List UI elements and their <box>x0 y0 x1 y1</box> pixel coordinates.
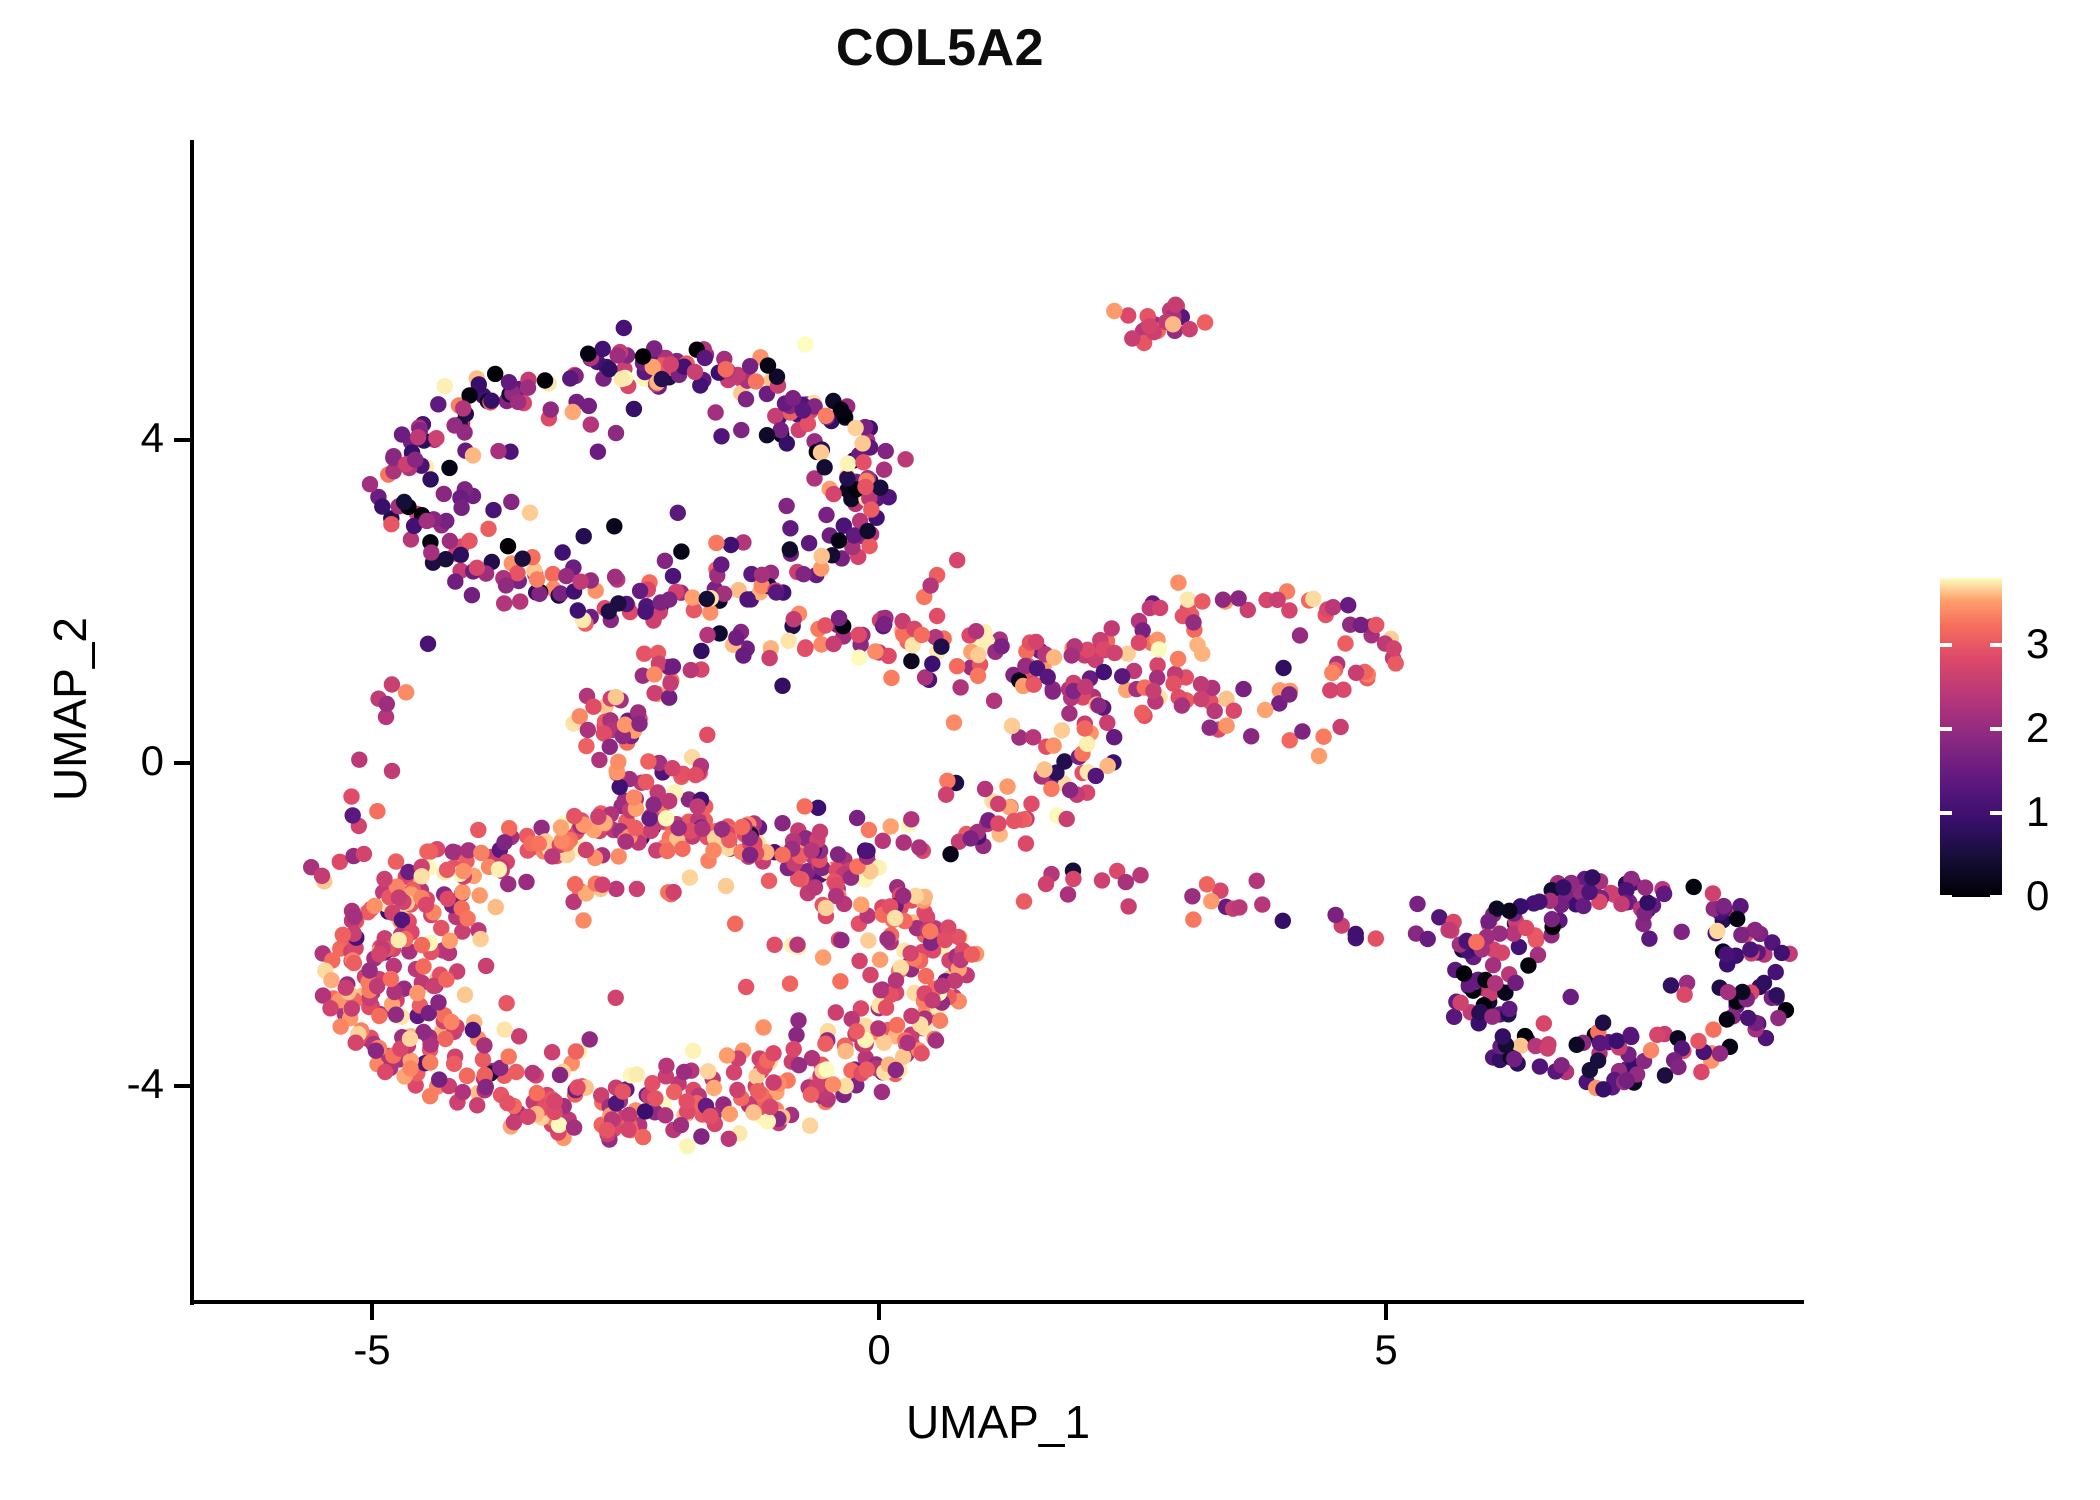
scatter-point <box>795 566 811 582</box>
scatter-point <box>1348 926 1364 942</box>
scatter-point <box>664 760 680 776</box>
scatter-point <box>1184 888 1200 904</box>
x-axis-title: UMAP_1 <box>194 1395 1802 1449</box>
scatter-point <box>713 556 729 572</box>
scatter-point <box>1088 768 1104 784</box>
scatter-point <box>1141 318 1157 334</box>
scatter-point <box>410 429 426 445</box>
scatter-point <box>1520 957 1536 973</box>
scatter-point <box>402 1060 418 1076</box>
scatter-point <box>1062 782 1078 798</box>
scatter-point <box>1077 679 1093 695</box>
colorbar-gradient <box>1940 578 2002 897</box>
scatter-point <box>1023 796 1039 812</box>
x-tick-mark <box>370 1304 374 1320</box>
scatter-point <box>791 1057 807 1073</box>
scatter-point <box>860 932 876 948</box>
scatter-point <box>343 788 359 804</box>
scatter-point <box>754 567 770 583</box>
scatter-point <box>595 341 611 357</box>
scatter-point <box>924 656 940 672</box>
scatter-point <box>860 523 876 539</box>
scatter-point <box>887 910 903 926</box>
scatter-point <box>1480 913 1496 929</box>
scatter-point <box>862 967 878 983</box>
scatter-point <box>661 591 677 607</box>
scatter-point <box>376 871 392 887</box>
scatter-point <box>498 577 514 593</box>
scatter-point <box>415 958 431 974</box>
scatter-point <box>830 846 846 862</box>
scatter-point <box>1485 957 1501 973</box>
scatter-point <box>599 1122 615 1138</box>
scatter-point <box>1094 872 1110 888</box>
scatter-point <box>1507 975 1523 991</box>
scatter-point <box>440 891 456 907</box>
scatter-point <box>544 848 560 864</box>
scatter-point <box>1046 649 1062 665</box>
scatter-point <box>1506 1051 1522 1067</box>
colorbar-tick-mark <box>1990 895 2002 899</box>
scatter-point <box>1124 330 1140 346</box>
scatter-point <box>1532 1058 1548 1074</box>
scatter-point <box>511 1028 527 1044</box>
scatter-point <box>739 591 755 607</box>
scatter-point <box>611 848 627 864</box>
scatter-point <box>1152 600 1168 616</box>
scatter-point <box>1120 307 1136 323</box>
scatter-point <box>1409 896 1425 912</box>
scatter-point <box>851 953 867 969</box>
scatter-point <box>369 803 385 819</box>
scatter-point <box>699 627 715 643</box>
scatter-point <box>439 862 455 878</box>
scatter-point <box>658 810 674 826</box>
scatter-point <box>1368 930 1384 946</box>
scatter-point <box>797 336 813 352</box>
scatter-point <box>1555 879 1571 895</box>
scatter-point <box>437 1031 453 1047</box>
umap-feature-plot: COL5A2 -404-505 UMAP_1 UMAP_2 0123 <box>0 0 2100 1500</box>
scatter-point <box>659 843 675 859</box>
scatter-point <box>608 689 624 705</box>
scatter-point <box>700 1063 716 1079</box>
scatter-point <box>673 543 689 559</box>
scatter-point <box>568 1043 584 1059</box>
scatter-point <box>403 531 419 547</box>
scatter-point <box>1592 1035 1608 1051</box>
scatter-point <box>508 1064 524 1080</box>
scatter-point <box>1487 975 1503 991</box>
scatter-point <box>849 1023 865 1039</box>
scatter-point <box>1332 719 1348 735</box>
scatter-point <box>1718 946 1734 962</box>
scatter-point <box>407 452 423 468</box>
scatter-point <box>478 958 494 974</box>
scatter-point <box>872 952 888 968</box>
scatter-point <box>816 459 832 475</box>
scatter-point <box>362 476 378 492</box>
scatter-point <box>1026 677 1042 693</box>
scatter-point <box>855 454 871 470</box>
scatter-point <box>637 604 653 620</box>
scatter-point <box>338 980 354 996</box>
scatter-point <box>851 650 867 666</box>
scatter-point <box>509 565 525 581</box>
scatter-point <box>1040 669 1056 685</box>
colorbar-tick-label: 0 <box>2026 875 2049 917</box>
scatter-point <box>500 876 516 892</box>
scatter-point <box>699 727 715 743</box>
scatter-point <box>738 979 754 995</box>
scatter-point <box>575 912 591 928</box>
scatter-point <box>503 494 519 510</box>
scatter-point <box>453 547 469 563</box>
scatter-point <box>1388 655 1404 671</box>
scatter-point <box>968 623 984 639</box>
scatter-point <box>552 1067 568 1083</box>
scatter-point <box>1194 593 1210 609</box>
scatter-point <box>1218 718 1234 734</box>
scatter-point <box>1337 635 1353 651</box>
scatter-point <box>1038 876 1054 892</box>
scatter-point <box>889 1017 905 1033</box>
scatter-point <box>1641 931 1657 947</box>
scatter-point <box>674 841 690 857</box>
scatter-point <box>438 971 454 987</box>
scatter-point <box>1340 597 1356 613</box>
scatter-point <box>1495 1028 1511 1044</box>
scatter-point <box>1539 1040 1555 1056</box>
scatter-point <box>847 420 863 436</box>
scatter-point <box>774 678 790 694</box>
scatter-point <box>949 658 965 674</box>
scatter-point <box>608 881 624 897</box>
scatter-point <box>480 521 496 537</box>
scatter-point <box>488 899 504 915</box>
scatter-point <box>1165 316 1181 332</box>
scatter-point <box>1106 303 1122 319</box>
scatter-point <box>626 789 642 805</box>
scatter-point <box>1294 723 1310 739</box>
scatter-point <box>657 553 673 569</box>
scatter-point <box>368 1043 384 1059</box>
scatter-point <box>647 1090 663 1106</box>
scatter-point <box>785 390 801 406</box>
scatter-point <box>1197 314 1213 330</box>
scatter-point <box>932 1013 948 1029</box>
scatter-point <box>446 1056 462 1072</box>
scatter-point <box>1584 869 1600 885</box>
scatter-point <box>1167 297 1183 313</box>
scatter-point <box>1770 1010 1786 1026</box>
scatter-point <box>1676 987 1692 1003</box>
scatter-point <box>1180 591 1196 607</box>
scatter-point <box>873 982 889 998</box>
scatter-point <box>825 1076 841 1092</box>
scatter-point <box>1705 885 1721 901</box>
scatter-point <box>853 897 869 913</box>
scatter-point <box>345 807 361 823</box>
scatter-point <box>580 722 596 738</box>
scatter-point <box>1145 683 1161 699</box>
scatter-point <box>617 717 633 733</box>
scatter-point <box>562 370 578 386</box>
scatter-point <box>485 502 501 518</box>
scatter-point <box>837 1043 853 1059</box>
scatter-point <box>878 443 894 459</box>
scatter-point <box>402 1031 418 1047</box>
scatter-point <box>870 1020 886 1036</box>
scatter-point <box>714 821 730 837</box>
scatter-point <box>727 916 743 932</box>
scatter-point <box>859 1061 875 1077</box>
scatter-point <box>351 752 367 768</box>
scatter-point <box>1452 995 1468 1011</box>
scatter-point <box>537 372 553 388</box>
scatter-point <box>687 767 703 783</box>
scatter-point <box>348 1035 364 1051</box>
scatter-point <box>610 754 626 770</box>
scatter-point <box>1742 941 1758 957</box>
scatter-point <box>455 400 471 416</box>
scatter-point <box>1235 681 1251 697</box>
scatter-point <box>1640 894 1656 910</box>
scatter-point <box>990 815 1006 831</box>
scatter-point <box>657 1107 673 1123</box>
colorbar-tick-mark <box>1940 727 1952 731</box>
page-title: COL5A2 <box>0 18 1880 78</box>
scatter-point <box>1096 664 1112 680</box>
scatter-point <box>1207 703 1223 719</box>
scatter-point <box>1595 1081 1611 1097</box>
scatter-point <box>679 1138 695 1154</box>
colorbar-tick-label: 3 <box>2026 623 2049 665</box>
scatter-point <box>472 931 488 947</box>
scatter-point <box>699 591 715 607</box>
scatter-point <box>314 868 330 884</box>
scatter-point <box>422 1088 438 1104</box>
scatter-point <box>706 1080 722 1096</box>
scatter-point <box>1189 637 1205 653</box>
scatter-point <box>1043 781 1059 797</box>
scatter-point <box>608 990 624 1006</box>
scatter-point <box>384 676 400 692</box>
scatter-point <box>455 1084 471 1100</box>
scatter-point <box>1061 705 1077 721</box>
scatter-point <box>1132 867 1148 883</box>
x-tick-mark <box>1384 1304 1388 1320</box>
scatter-point <box>1099 715 1115 731</box>
scatter-point <box>774 815 790 831</box>
scatter-point <box>684 589 700 605</box>
scatter-point <box>1106 729 1122 745</box>
scatter-point <box>1311 748 1327 764</box>
scatter-point <box>1199 876 1215 892</box>
scatter-point <box>1618 1072 1634 1088</box>
scatter-point <box>478 1079 494 1095</box>
scatter-point <box>635 348 651 364</box>
scatter-point <box>1134 705 1150 721</box>
scatter-point <box>903 653 919 669</box>
scatter-point <box>1114 668 1130 684</box>
scatter-point <box>855 435 871 451</box>
scatter-point <box>570 602 586 618</box>
scatter-point <box>546 1093 562 1109</box>
scatter-point <box>1712 1045 1728 1061</box>
scatter-point <box>591 752 607 768</box>
scatter-point <box>1230 590 1246 606</box>
scatter-point <box>573 574 589 590</box>
scatter-point <box>446 417 462 433</box>
scatter-point <box>1182 321 1198 337</box>
y-tick-mark <box>174 1084 190 1088</box>
scatter-point <box>874 1084 890 1100</box>
scatter-point <box>1705 1021 1721 1037</box>
scatter-point <box>500 538 516 554</box>
scatter-point <box>612 779 628 795</box>
scatter-point <box>1059 811 1075 827</box>
scatter-point <box>658 1058 674 1074</box>
scatter-point <box>1254 896 1270 912</box>
scatter-point <box>825 636 841 652</box>
scatter-point <box>487 366 503 382</box>
scatter-point <box>1720 984 1736 1000</box>
scatter-point <box>693 643 709 659</box>
scatter-point <box>782 520 798 536</box>
scatter-point <box>661 793 677 809</box>
scatter-point <box>601 603 617 619</box>
scatter-point <box>762 1099 778 1115</box>
scatter-point <box>578 738 594 754</box>
scatter-point <box>638 774 654 790</box>
scatter-point <box>654 371 670 387</box>
scatter-point <box>1025 729 1041 745</box>
x-tick-mark <box>877 1304 881 1320</box>
scatter-point <box>346 955 362 971</box>
scatter-point <box>859 843 875 859</box>
scatter-point <box>722 1106 738 1122</box>
scatter-point <box>1623 1029 1639 1045</box>
scatter-point <box>831 532 847 548</box>
scatter-point <box>431 1071 447 1087</box>
scatter-point <box>863 501 879 517</box>
scatter-point <box>514 551 530 567</box>
scatter-point <box>423 544 439 560</box>
scatter-point <box>496 595 512 611</box>
scatter-point <box>620 1121 636 1137</box>
scatter-point <box>1348 665 1364 681</box>
scatter-point <box>986 693 1002 709</box>
scatter-point <box>689 798 705 814</box>
scatter-point <box>1733 927 1749 943</box>
scatter-point <box>618 833 634 849</box>
scatter-point <box>1774 945 1790 961</box>
scatter-point <box>371 1008 387 1024</box>
scatter-point <box>937 932 953 948</box>
scatter-point <box>1484 1009 1500 1025</box>
scatter-point <box>1327 907 1343 923</box>
scatter-point <box>1716 898 1732 914</box>
scatter-point <box>765 1074 781 1090</box>
y-tick-mark <box>174 438 190 442</box>
scatter-point <box>708 535 724 551</box>
colorbar-tick-label: 2 <box>2026 707 2049 749</box>
scatter-point <box>1054 722 1070 738</box>
scatter-point <box>928 1032 944 1048</box>
scatter-point <box>496 834 512 850</box>
scatter-point <box>501 1048 517 1064</box>
scatter-point <box>366 898 382 914</box>
scatter-point <box>685 1043 701 1059</box>
scatter-point <box>1613 896 1629 912</box>
scatter-point <box>637 1103 653 1119</box>
scatter-point <box>933 639 949 655</box>
scatter-point <box>682 869 698 885</box>
scatter-point <box>525 1065 541 1081</box>
scatter-point <box>576 528 592 544</box>
scatter-point <box>646 685 662 701</box>
scatter-point <box>615 1083 631 1099</box>
scatter-point <box>1609 1033 1625 1049</box>
scatter-point <box>735 647 751 663</box>
scatter-point <box>1569 1037 1585 1053</box>
scatter-point <box>903 945 919 961</box>
scatter-point <box>896 834 912 850</box>
scatter-point <box>1185 911 1201 927</box>
scatter-point <box>414 868 430 884</box>
scatter-point <box>807 879 823 895</box>
scatter-point <box>1174 697 1190 713</box>
scatter-point <box>1151 641 1167 657</box>
scatter-point <box>872 480 888 496</box>
scatter-point <box>1045 683 1061 699</box>
scatter-point <box>499 1095 515 1111</box>
scatter-point <box>512 593 528 609</box>
scatter-point <box>818 507 834 523</box>
scatter-point <box>723 537 739 553</box>
scatter-point <box>818 900 834 916</box>
scatter-point <box>729 1082 745 1098</box>
scatter-point <box>594 877 610 893</box>
scatter-point <box>942 846 958 862</box>
scatter-point <box>1118 874 1134 890</box>
scatter-point <box>438 551 454 567</box>
scatter-point <box>602 739 618 755</box>
scatter-point <box>1185 614 1201 630</box>
scatter-point <box>755 1019 771 1035</box>
scatter-point <box>876 462 892 478</box>
scatter-point <box>501 374 517 390</box>
scatter-point <box>774 847 790 863</box>
colorbar-tick-mark <box>1940 643 1952 647</box>
scatter-point <box>1305 591 1321 607</box>
scatter-point <box>646 796 662 812</box>
scatter-point <box>361 962 377 978</box>
scatter-point <box>939 773 955 789</box>
scatter-point <box>1468 934 1484 950</box>
scatter-point <box>946 714 962 730</box>
scatter-point <box>610 347 626 363</box>
scatter-point <box>694 821 710 837</box>
scatter-point <box>490 443 506 459</box>
scatter-point <box>895 888 911 904</box>
scatter-point <box>578 842 594 858</box>
scatter-point <box>1353 617 1369 633</box>
scatter-point <box>883 818 899 834</box>
scatter-point <box>1324 665 1340 681</box>
scatter-point <box>1553 1057 1569 1073</box>
